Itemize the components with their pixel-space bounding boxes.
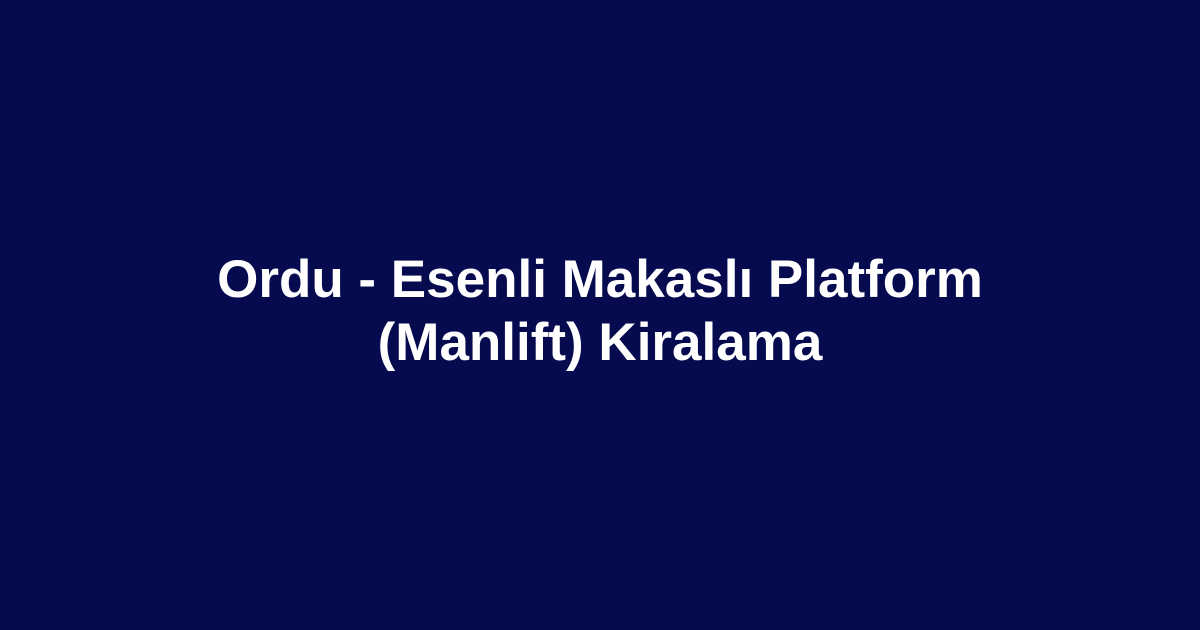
page-title: Ordu - Esenli Makaslı Platform (Manlift)…	[140, 248, 1060, 374]
title-block: Ordu - Esenli Makaslı Platform (Manlift)…	[100, 248, 1100, 374]
share-card: Ordu - Esenli Makaslı Platform (Manlift)…	[0, 0, 1200, 630]
